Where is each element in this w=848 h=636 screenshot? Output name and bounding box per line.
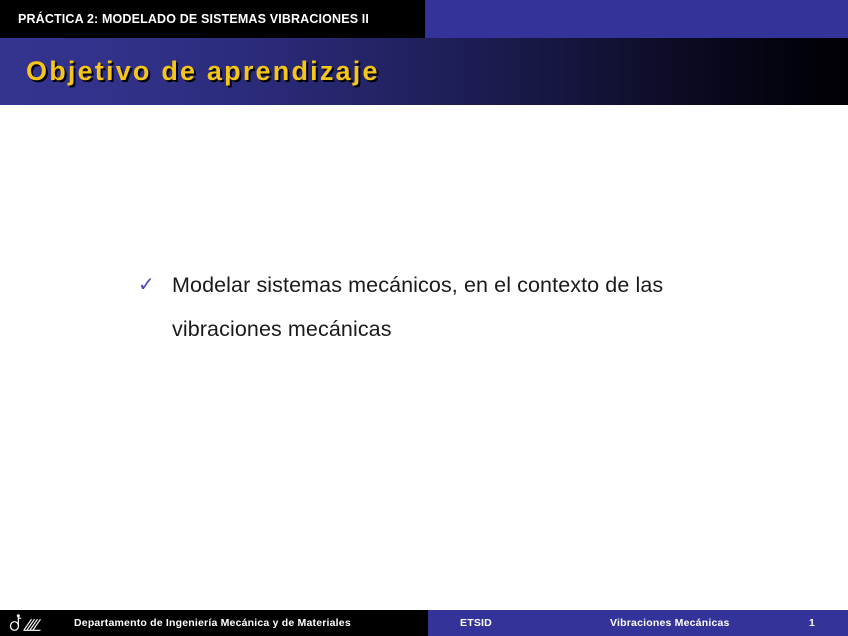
slide-title: Objetivo de aprendizaje (0, 56, 380, 87)
footer-school-label: ETSID (460, 617, 492, 629)
upv-logo-icon (0, 614, 46, 632)
checkmark-icon: ✓ (138, 263, 172, 307)
top-bar-black-box: PRÁCTICA 2: MODELADO DE SISTEMAS VIBRACI… (0, 0, 425, 38)
slide-title-band: Objetivo de aprendizaje (0, 38, 848, 105)
footer-bar: Departamento de Ingeniería Mecánica y de… (0, 610, 848, 636)
footer-left-section: Departamento de Ingeniería Mecánica y de… (0, 610, 428, 636)
slide-body: ✓ Modelar sistemas mecánicos, en el cont… (0, 105, 848, 610)
footer-course-label: Vibraciones Mecánicas (610, 617, 730, 629)
top-bar: PRÁCTICA 2: MODELADO DE SISTEMAS VIBRACI… (0, 0, 848, 38)
bullet-text-line-2: vibraciones mecánicas (172, 307, 392, 351)
footer-department-label: Departamento de Ingeniería Mecánica y de… (46, 617, 351, 629)
footer-right-section: ETSID Vibraciones Mecánicas 1 (428, 610, 848, 636)
list-item-continuation: vibraciones mecánicas (138, 307, 738, 351)
slide-canvas: PRÁCTICA 2: MODELADO DE SISTEMAS VIBRACI… (0, 0, 848, 636)
practice-title-label: PRÁCTICA 2: MODELADO DE SISTEMAS VIBRACI… (0, 12, 369, 26)
footer-page-number: 1 (809, 617, 815, 629)
bullet-list: ✓ Modelar sistemas mecánicos, en el cont… (138, 263, 738, 351)
list-item: ✓ Modelar sistemas mecánicos, en el cont… (138, 263, 738, 307)
bullet-text-line-1: Modelar sistemas mecánicos, en el contex… (172, 263, 663, 307)
